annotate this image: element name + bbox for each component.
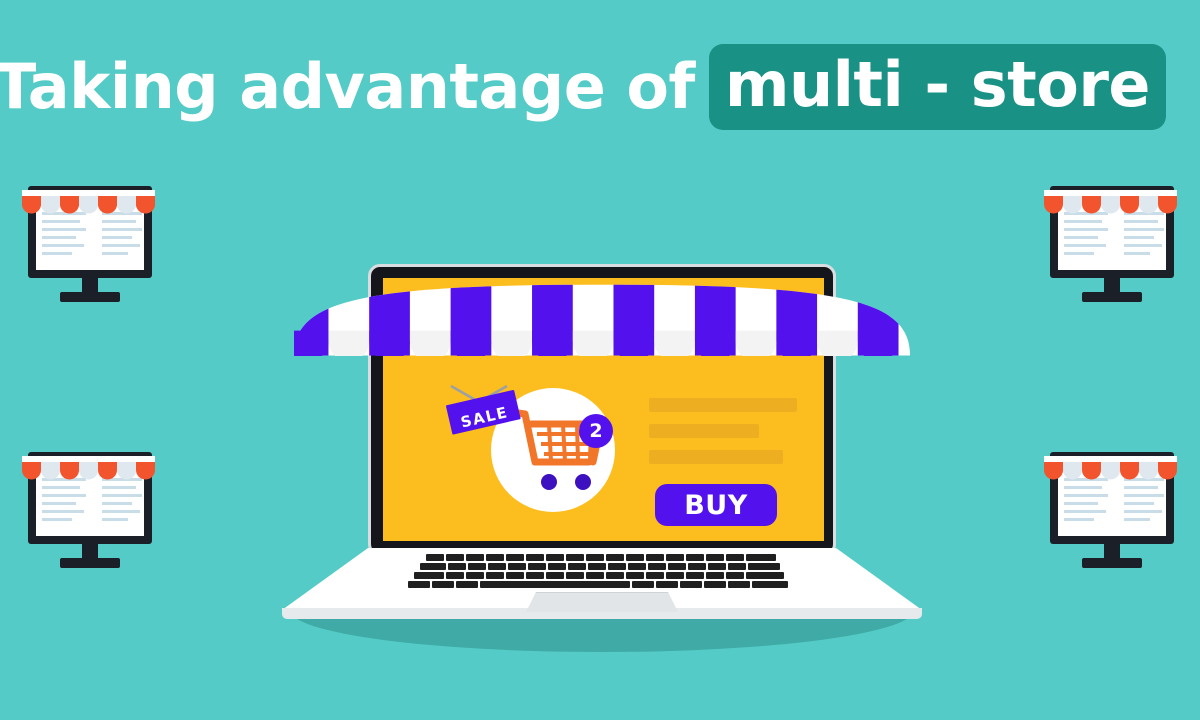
storefront-monitor-icon bbox=[1036, 452, 1188, 574]
store-icon-bottom-right bbox=[1036, 452, 1188, 574]
illustration-canvas: Taking advantage of multi - store bbox=[0, 0, 1200, 720]
storefront-monitor-icon bbox=[1036, 186, 1188, 308]
laptop-base bbox=[282, 548, 922, 626]
buy-button[interactable]: BUY bbox=[655, 484, 777, 526]
store-icon-top-right bbox=[1036, 186, 1188, 308]
cart-item-count: 2 bbox=[589, 422, 602, 441]
cart-item-count-badge: 2 bbox=[579, 414, 613, 448]
laptop-keyboard[interactable] bbox=[392, 552, 812, 592]
storefront-monitor-icon bbox=[14, 186, 166, 308]
placeholder-text-bar-1 bbox=[649, 398, 797, 412]
awning-scallop-edge bbox=[294, 331, 899, 356]
headline-highlight-text: multi - store bbox=[725, 54, 1150, 116]
headline-lead-text: Taking advantage of bbox=[0, 56, 695, 118]
placeholder-text-bar-3 bbox=[649, 450, 783, 464]
store-icon-bottom-left bbox=[14, 452, 166, 574]
store-icon-top-left bbox=[14, 186, 166, 308]
sale-tag: SALE bbox=[443, 380, 529, 446]
headline-highlight-badge: multi - store bbox=[709, 44, 1166, 130]
storefront-awning bbox=[294, 276, 910, 356]
sale-tag-shape bbox=[443, 380, 529, 446]
cart-wheel-right bbox=[575, 474, 591, 490]
page-title: Taking advantage of multi - store bbox=[0, 42, 1200, 132]
laptop-trackpad[interactable] bbox=[526, 592, 678, 612]
laptop-illustration: BUY bbox=[282, 258, 922, 658]
placeholder-text-bar-2 bbox=[649, 424, 759, 438]
cart-wheel-left bbox=[541, 474, 557, 490]
storefront-monitor-icon bbox=[14, 452, 166, 574]
buy-button-label: BUY bbox=[684, 492, 748, 519]
